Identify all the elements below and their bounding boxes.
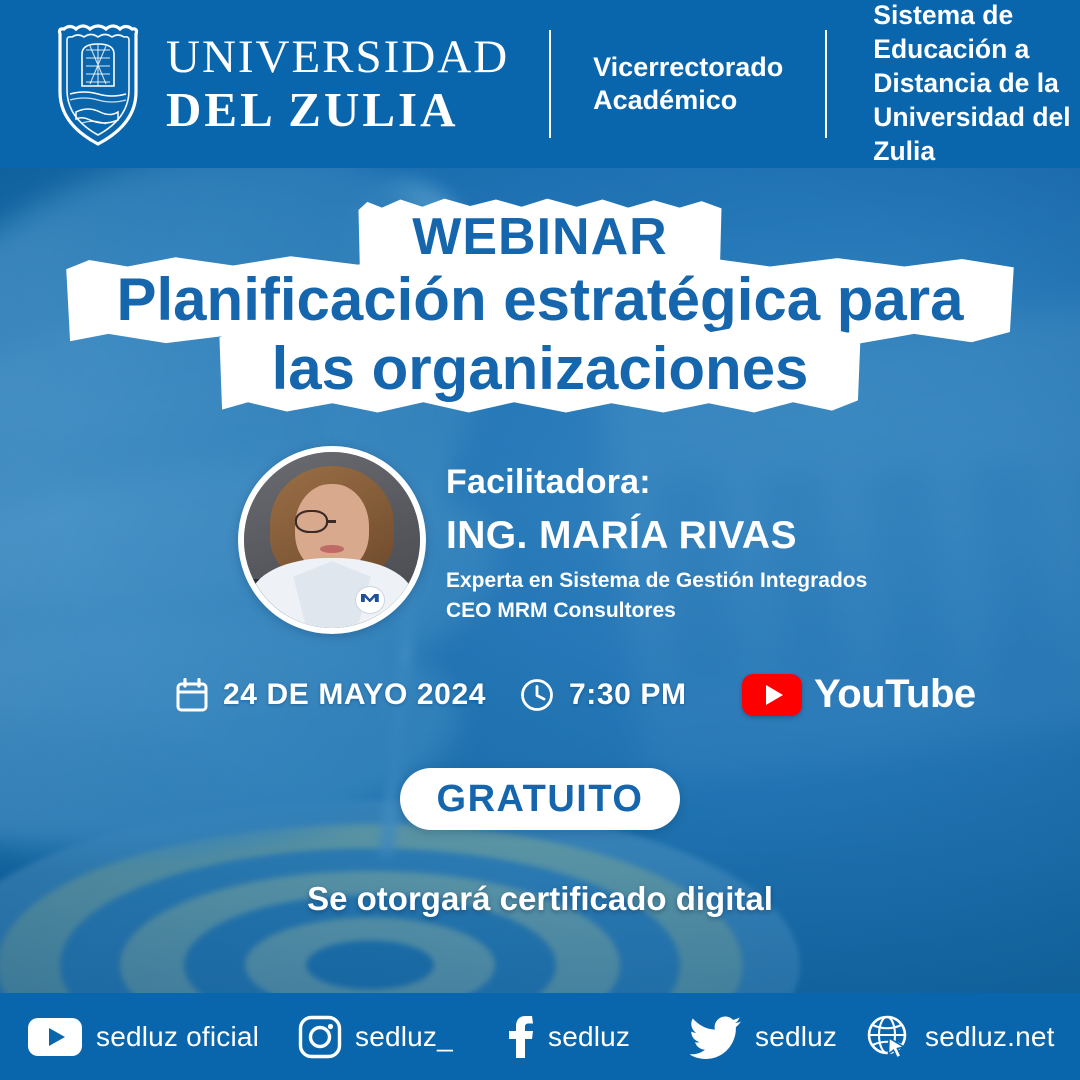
speaker-credential: Experta en Sistema de Gestión Integrados bbox=[446, 567, 1006, 595]
webinar-poster: UNIVERSIDAD DEL ZULIA Vicerrectorado Aca… bbox=[0, 0, 1080, 1080]
title-block: WEBINAR Planificación estratégica para l… bbox=[0, 206, 1080, 406]
university-wordmark: UNIVERSIDAD DEL ZULIA bbox=[166, 34, 509, 134]
clock-icon bbox=[520, 678, 554, 712]
speaker-position: CEO MRM Consultores bbox=[446, 597, 1006, 625]
certificate-note: Se otorgará certificado digital bbox=[0, 880, 1080, 918]
mrm-logo-icon bbox=[355, 586, 385, 614]
twitter-icon[interactable] bbox=[690, 1015, 742, 1059]
event-time-text: 7:30 PM bbox=[569, 678, 687, 712]
social-handle: sedluz bbox=[755, 1021, 837, 1053]
speaker-section: Facilitadora: ING. MARÍA RIVAS Experta e… bbox=[0, 446, 1080, 646]
globe-cursor-icon[interactable] bbox=[866, 1014, 912, 1060]
facebook-icon[interactable] bbox=[505, 1014, 535, 1060]
social-twitter[interactable]: sedluz bbox=[690, 1015, 837, 1059]
event-date-text: 24 DE MAYO 2024 bbox=[223, 678, 486, 712]
event-meta-row: 24 DE MAYO 2024 7:30 PM YouTube bbox=[0, 672, 1080, 738]
sedluz-label: Sistema de Educación a Distancia de la U… bbox=[873, 0, 1080, 169]
free-badge: GRATUITO bbox=[400, 768, 680, 830]
title-line-3: las organizaciones bbox=[246, 332, 835, 406]
event-time: 7:30 PM bbox=[520, 678, 687, 712]
social-youtube[interactable]: sedluz oficial bbox=[27, 1017, 259, 1057]
brand-line-1: UNIVERSIDAD bbox=[166, 34, 509, 81]
social-handle: sedluz oficial bbox=[96, 1021, 259, 1053]
uz-shield-crest-icon bbox=[52, 20, 144, 148]
speaker-details: Facilitadora: ING. MARÍA RIVAS Experta e… bbox=[446, 464, 1006, 625]
title-line-3-text: las organizaciones bbox=[246, 332, 835, 406]
footer-social-bar: sedluz oficial sedluz_ sedluz sedluz bbox=[0, 993, 1080, 1080]
free-badge-text: GRATUITO bbox=[437, 778, 644, 821]
header-bar: UNIVERSIDAD DEL ZULIA Vicerrectorado Aca… bbox=[0, 0, 1080, 168]
social-handle: sedluz_ bbox=[355, 1021, 453, 1053]
calendar-icon bbox=[176, 678, 208, 712]
brand-line-2: DEL ZULIA bbox=[166, 85, 509, 134]
social-facebook[interactable]: sedluz bbox=[505, 1014, 630, 1060]
youtube-icon[interactable] bbox=[27, 1017, 83, 1057]
speaker-portrait bbox=[244, 452, 420, 628]
header-divider bbox=[549, 30, 551, 138]
certificate-note-text: Se otorgará certificado digital bbox=[307, 880, 773, 917]
social-website[interactable]: sedluz.net bbox=[866, 1014, 1055, 1060]
youtube-play-icon[interactable] bbox=[742, 674, 802, 716]
social-instagram[interactable]: sedluz_ bbox=[298, 1015, 453, 1059]
avatar bbox=[238, 446, 426, 634]
youtube-label: YouTube bbox=[814, 672, 976, 717]
title-line-2: Planificación estratégica para bbox=[90, 263, 989, 337]
instagram-icon[interactable] bbox=[298, 1015, 342, 1059]
vicerrectorado-label: Vicerrectorado Académico bbox=[593, 51, 783, 117]
speaker-role-label: Facilitadora: bbox=[446, 464, 1006, 501]
title-line-2-text: Planificación estratégica para bbox=[90, 263, 989, 337]
header-divider bbox=[825, 30, 827, 138]
speaker-name: ING. MARÍA RIVAS bbox=[446, 515, 1006, 558]
social-handle: sedluz.net bbox=[925, 1021, 1055, 1053]
event-date: 24 DE MAYO 2024 bbox=[176, 678, 486, 712]
youtube-platform[interactable]: YouTube bbox=[742, 672, 976, 717]
social-handle: sedluz bbox=[548, 1021, 630, 1053]
